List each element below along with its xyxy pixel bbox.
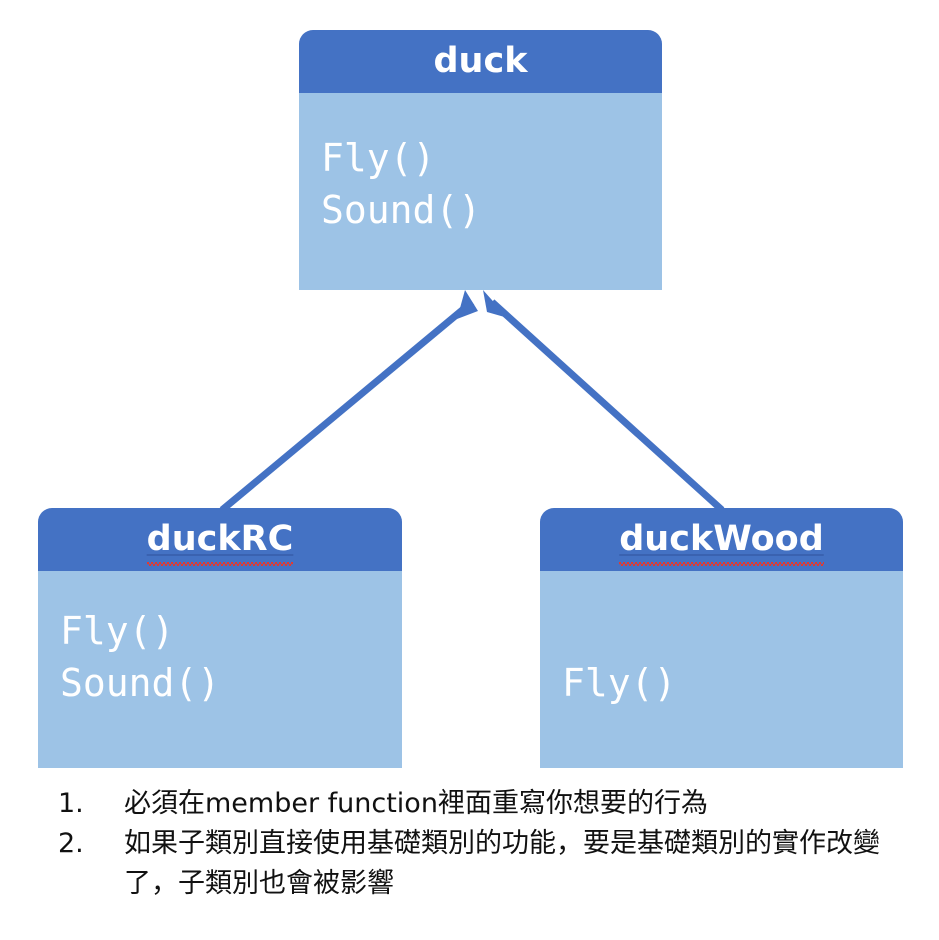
uml-member-duck-sound: Sound() (321, 184, 662, 236)
uml-class-body-duck: Fly() Sound() (299, 93, 662, 290)
uml-class-header-duck: duck (299, 30, 662, 93)
uml-class-title-duck: duck (434, 44, 528, 79)
connector-duckwood-to-duck (483, 290, 722, 510)
uml-class-duck[interactable]: duck Fly() Sound() (299, 30, 662, 290)
note-item: 2. 如果子類別直接使用基礎類別的功能，要是基礎類別的實作改變了，子類別也會被影… (44, 824, 924, 904)
uml-class-duckwood[interactable]: duckWood Fly() (540, 508, 903, 768)
uml-member-duckwood-fly: Fly() (562, 657, 903, 709)
arrowhead-icon (457, 290, 478, 319)
uml-member-duckrc-sound: Sound() (60, 657, 402, 709)
note-item: 1. 必須在member function裡面重寫你想要的行為 (44, 784, 924, 824)
uml-class-body-duckrc: Fly() Sound() (38, 571, 402, 768)
note-marker: 2. (44, 824, 124, 864)
uml-class-title-duckwood: duckWood (619, 522, 824, 557)
uml-class-title-duckrc: duckRC (147, 522, 294, 557)
uml-member-duck-fly: Fly() (321, 132, 662, 184)
notes-list: 1. 必須在member function裡面重寫你想要的行為 2. 如果子類別… (44, 784, 924, 904)
note-marker: 1. (44, 784, 124, 824)
uml-class-header-duckrc: duckRC (38, 508, 402, 571)
uml-class-duckrc[interactable]: duckRC Fly() Sound() (38, 508, 402, 768)
uml-class-header-duckwood: duckWood (540, 508, 903, 571)
note-text: 必須在member function裡面重寫你想要的行為 (124, 784, 924, 824)
uml-class-body-duckwood: Fly() (540, 571, 903, 768)
note-text: 如果子類別直接使用基礎類別的功能，要是基礎類別的實作改變了，子類別也會被影響 (124, 824, 924, 904)
uml-member-duckrc-fly: Fly() (60, 605, 402, 657)
connector-duckrc-to-duck (222, 290, 478, 510)
